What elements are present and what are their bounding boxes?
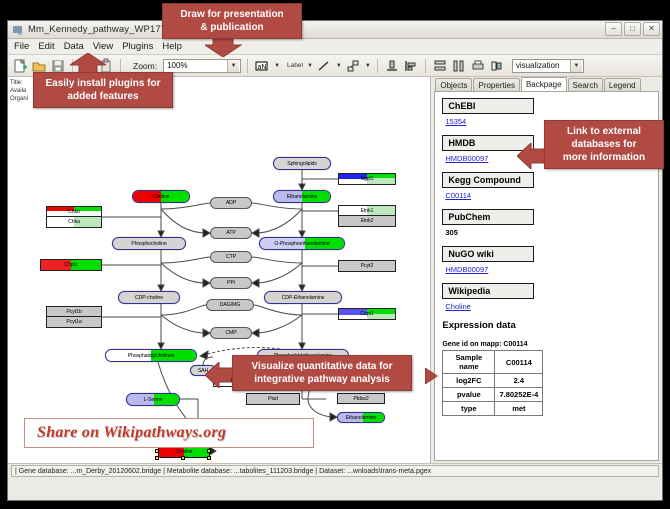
expression-data-title: Expression data <box>442 320 652 331</box>
menu-item-plugins[interactable]: Plugins <box>122 41 153 52</box>
node-label: DAG/MG <box>220 302 240 308</box>
maximize-button[interactable]: □ <box>624 22 641 36</box>
db-header-nugo-wiki: NuGO wiki <box>442 246 534 262</box>
db-link-kegg[interactable]: C00114 <box>445 191 652 200</box>
gene-chpt1[interactable]: Chpt1 <box>40 259 102 271</box>
gene-pcyt1b[interactable]: Pcyt1b <box>46 306 102 317</box>
app-icon <box>12 24 23 35</box>
shape-icon[interactable] <box>345 58 361 74</box>
menu-item-file[interactable]: File <box>14 41 29 52</box>
distribute-horizontal-icon[interactable] <box>451 58 467 74</box>
callout-visualize-line2: integrative pathway analysis <box>239 373 405 386</box>
node-label: Sphingolipids <box>287 161 317 167</box>
expression-table: Sample name C00114 log2FC 2.4 pvalue 7.8… <box>442 350 543 416</box>
node-atp[interactable]: ATP <box>210 227 252 239</box>
node-label: Phosphocholine <box>131 241 167 247</box>
table-cell-key: pvalue <box>443 388 495 402</box>
selection-handle-e[interactable] <box>207 449 211 453</box>
gene-label: Etnk2 <box>361 218 374 224</box>
gene-chka[interactable]: Chka <box>46 217 102 228</box>
share-text: Share on Wikipathways.org <box>37 424 226 441</box>
gene-label: Sgpl1 <box>361 176 374 182</box>
db-header-pubchem: PubChem <box>442 209 534 225</box>
chevron-down-icon[interactable]: ▼ <box>336 63 342 69</box>
callout-links-arrow <box>517 143 547 169</box>
selection-handle-se[interactable] <box>207 456 211 460</box>
callout-links-line1: Link to external <box>551 125 657 138</box>
tab-objects[interactable]: Objects <box>435 78 472 91</box>
gene-cept1[interactable]: Cept1 <box>338 308 396 320</box>
align-bottom-icon[interactable] <box>384 58 400 74</box>
datanode-icon[interactable]: aN <box>254 58 270 74</box>
callout-links-line2: databases for <box>551 138 657 151</box>
node-sphingolipids[interactable]: Sphingolipids <box>273 157 331 170</box>
gene-id-label: Gene id on mapp: C00114 <box>442 341 652 348</box>
node-label: CDP-choline <box>135 295 163 301</box>
callout-draw: Draw for presentation & publication <box>162 3 302 39</box>
svg-text:aN: aN <box>258 64 267 71</box>
table-row: Sample name C00114 <box>443 351 543 374</box>
gene-pcyt1a[interactable]: Pcyt1a <box>46 317 102 328</box>
selection-handle-w[interactable] <box>155 449 159 453</box>
db-link-nugo-wiki[interactable]: HMDB00097 <box>445 265 652 274</box>
node-label: Ethanolamine <box>287 194 318 200</box>
gene-label: Chkb <box>68 209 80 215</box>
callout-draw-line1: Draw for presentation <box>169 8 295 21</box>
panel-tabs: Objects Properties Backpage Search Legen… <box>431 77 662 91</box>
node-o-phosphoethanolamine[interactable]: O-Phosphoethanolamine <box>259 237 345 250</box>
node-l-serine-left[interactable]: L-Serine <box>126 393 180 406</box>
callout-plugins-line1: Easily install plugins for <box>40 77 166 90</box>
tab-backpage[interactable]: Backpage <box>521 77 567 91</box>
gene-label: Etnk1 <box>361 208 374 214</box>
align-left-icon[interactable] <box>403 58 419 74</box>
callout-draw-line2: & publication <box>169 21 295 34</box>
visualization-combo[interactable]: visualization ▼ <box>512 59 584 73</box>
minimize-button[interactable]: – <box>605 22 622 36</box>
node-label: ADP <box>226 200 236 206</box>
node-label: CMP <box>225 330 236 336</box>
node-label: PPi <box>227 280 235 286</box>
callout-links: Link to external databases for more info… <box>544 120 664 169</box>
db-header-kegg: Kegg Compound <box>442 172 534 188</box>
chevron-down-icon[interactable]: ▼ <box>365 63 371 69</box>
distribute-vertical-icon[interactable] <box>432 58 448 74</box>
gene-pcyt2[interactable]: Pcyt2 <box>338 260 396 272</box>
node-dag-mg[interactable]: DAG/MG <box>206 299 254 311</box>
menu-item-edit[interactable]: Edit <box>38 41 54 52</box>
chevron-down-icon[interactable]: ▼ <box>227 60 239 72</box>
node-ethanolamine[interactable]: Ethanolamine <box>273 190 331 203</box>
node-ppi[interactable]: PPi <box>210 277 252 289</box>
gene-label: Pcyt1b <box>66 309 81 315</box>
menu-item-data[interactable]: Data <box>64 41 84 52</box>
gene-label: Cept1 <box>360 311 373 317</box>
node-label: CTP <box>226 254 236 260</box>
gene-label: Ptdss2 <box>353 396 368 402</box>
tab-legend[interactable]: Legend <box>604 78 641 91</box>
line-icon[interactable] <box>316 58 332 74</box>
menu-item-help[interactable]: Help <box>162 41 182 52</box>
chevron-down-icon[interactable]: ▼ <box>274 63 280 69</box>
gene-label: Pcyt1a <box>66 319 81 325</box>
zoom-value: 100% <box>167 61 187 70</box>
node-cmp[interactable]: CMP <box>210 327 252 339</box>
menu-item-view[interactable]: View <box>93 41 113 52</box>
group-icon[interactable] <box>489 58 505 74</box>
node-label: O-Phosphoethanolamine <box>274 241 329 247</box>
callout-visualize-line1: Visualize quantitative data for <box>239 360 405 373</box>
visualization-value: visualization <box>516 61 560 70</box>
gene-label: Pisd <box>268 396 278 402</box>
callout-share: Share on Wikipathways.org <box>24 418 314 448</box>
selection-handle-s[interactable] <box>181 456 185 460</box>
selection-handle-sw[interactable] <box>155 456 159 460</box>
node-label: SAH <box>198 368 208 374</box>
toolbar-separator <box>425 59 426 73</box>
menu-bar: File Edit Data View Plugins Help <box>8 39 662 55</box>
node-label: Choline <box>176 449 193 455</box>
pathway-canvas[interactable]: Title: Availa Organi <box>8 77 431 463</box>
gene-ptdss2[interactable]: Ptdss2 <box>337 393 385 404</box>
table-cell-value: 7.80252E-4 <box>495 388 543 402</box>
node-phosphocholine[interactable]: Phosphocholine <box>112 237 186 250</box>
gene-label: Pcyt2 <box>361 263 373 269</box>
callout-visualize-arrow <box>205 362 235 388</box>
table-row: type met <box>443 402 543 416</box>
db-value-pubchem: 305 <box>445 228 652 237</box>
table-cell-key: Sample name <box>443 351 495 374</box>
title-bar: Mm_Kennedy_pathway_WP1771_45176.gpml – □… <box>8 21 662 39</box>
node-adp[interactable]: ADP <box>210 197 252 209</box>
table-cell-value: C00114 <box>495 351 543 374</box>
tab-properties[interactable]: Properties <box>473 78 519 91</box>
table-cell-value: met <box>495 402 543 416</box>
new-file-icon[interactable] <box>12 58 28 74</box>
gene-sgpl1[interactable]: Sgpl1 <box>338 173 396 185</box>
gene-etnk2[interactable]: Etnk2 <box>338 216 396 227</box>
node-label: CDP-Ethanolamine <box>282 295 325 301</box>
close-button[interactable]: ✕ <box>643 22 660 36</box>
node-label: Ethanolamine <box>346 415 377 421</box>
status-bar: | Gene database: ...m_Derby_20120602.bri… <box>8 463 662 478</box>
gene-etnk1[interactable]: Etnk1 <box>338 205 396 216</box>
table-cell-value: 2.4 <box>495 374 543 388</box>
zoom-label: Zoom: <box>133 61 157 71</box>
node-phosphatidylcholines[interactable]: Phosphatidylcholines <box>105 349 197 362</box>
table-cell-key: log2FC <box>443 374 495 388</box>
node-ctp[interactable]: CTP <box>210 251 252 263</box>
window-controls: – □ ✕ <box>605 22 660 36</box>
node-choline[interactable]: Choline <box>132 190 190 203</box>
node-label: ATP <box>226 230 235 236</box>
status-text: | Gene database: ...m_Derby_20120602.bri… <box>11 465 659 477</box>
gene-chkb[interactable]: Chkb <box>46 206 102 217</box>
callout-links-arrow-tail <box>425 368 439 384</box>
db-header-chebi: ChEBI <box>442 98 534 114</box>
node-cdp-ethanolamine[interactable]: CDP-Ethanolamine <box>264 291 342 304</box>
callout-plugins: Easily install plugins for added feature… <box>33 72 173 108</box>
toolbar-separator <box>377 59 378 73</box>
callout-plugins-line2: added features <box>40 90 166 103</box>
gene-label: Chka <box>68 219 80 225</box>
table-row: pvalue 7.80252E-4 <box>443 388 543 402</box>
table-cell-key: type <box>443 402 495 416</box>
zoom-combo[interactable]: 100% ▼ <box>163 59 241 73</box>
node-ethanolamine-right[interactable]: Ethanolamine <box>337 412 385 423</box>
toolbar-separator <box>247 59 248 73</box>
callout-visualize: Visualize quantitative data for integrat… <box>232 355 412 391</box>
node-cdp-choline[interactable]: CDP-choline <box>118 291 180 304</box>
gene-label: Chpt1 <box>64 262 77 268</box>
node-label: Choline <box>153 194 170 200</box>
label-button[interactable]: Label <box>287 62 303 69</box>
gene-pisd[interactable]: Pisd <box>246 393 300 405</box>
tab-search[interactable]: Search <box>568 78 603 91</box>
table-row: log2FC 2.4 <box>443 374 543 388</box>
db-header-wikipedia: Wikipedia <box>442 283 534 299</box>
toolbar-separator <box>120 59 121 73</box>
node-label: L-Serine <box>144 397 163 403</box>
chevron-down-icon[interactable]: ▼ <box>570 60 582 72</box>
callout-links-line3: more information <box>551 151 657 164</box>
print-icon[interactable] <box>470 58 486 74</box>
db-link-wikipedia[interactable]: Choline <box>445 302 652 311</box>
chevron-down-icon[interactable]: ▼ <box>307 63 313 69</box>
node-label: Phosphatidylcholines <box>128 353 175 359</box>
